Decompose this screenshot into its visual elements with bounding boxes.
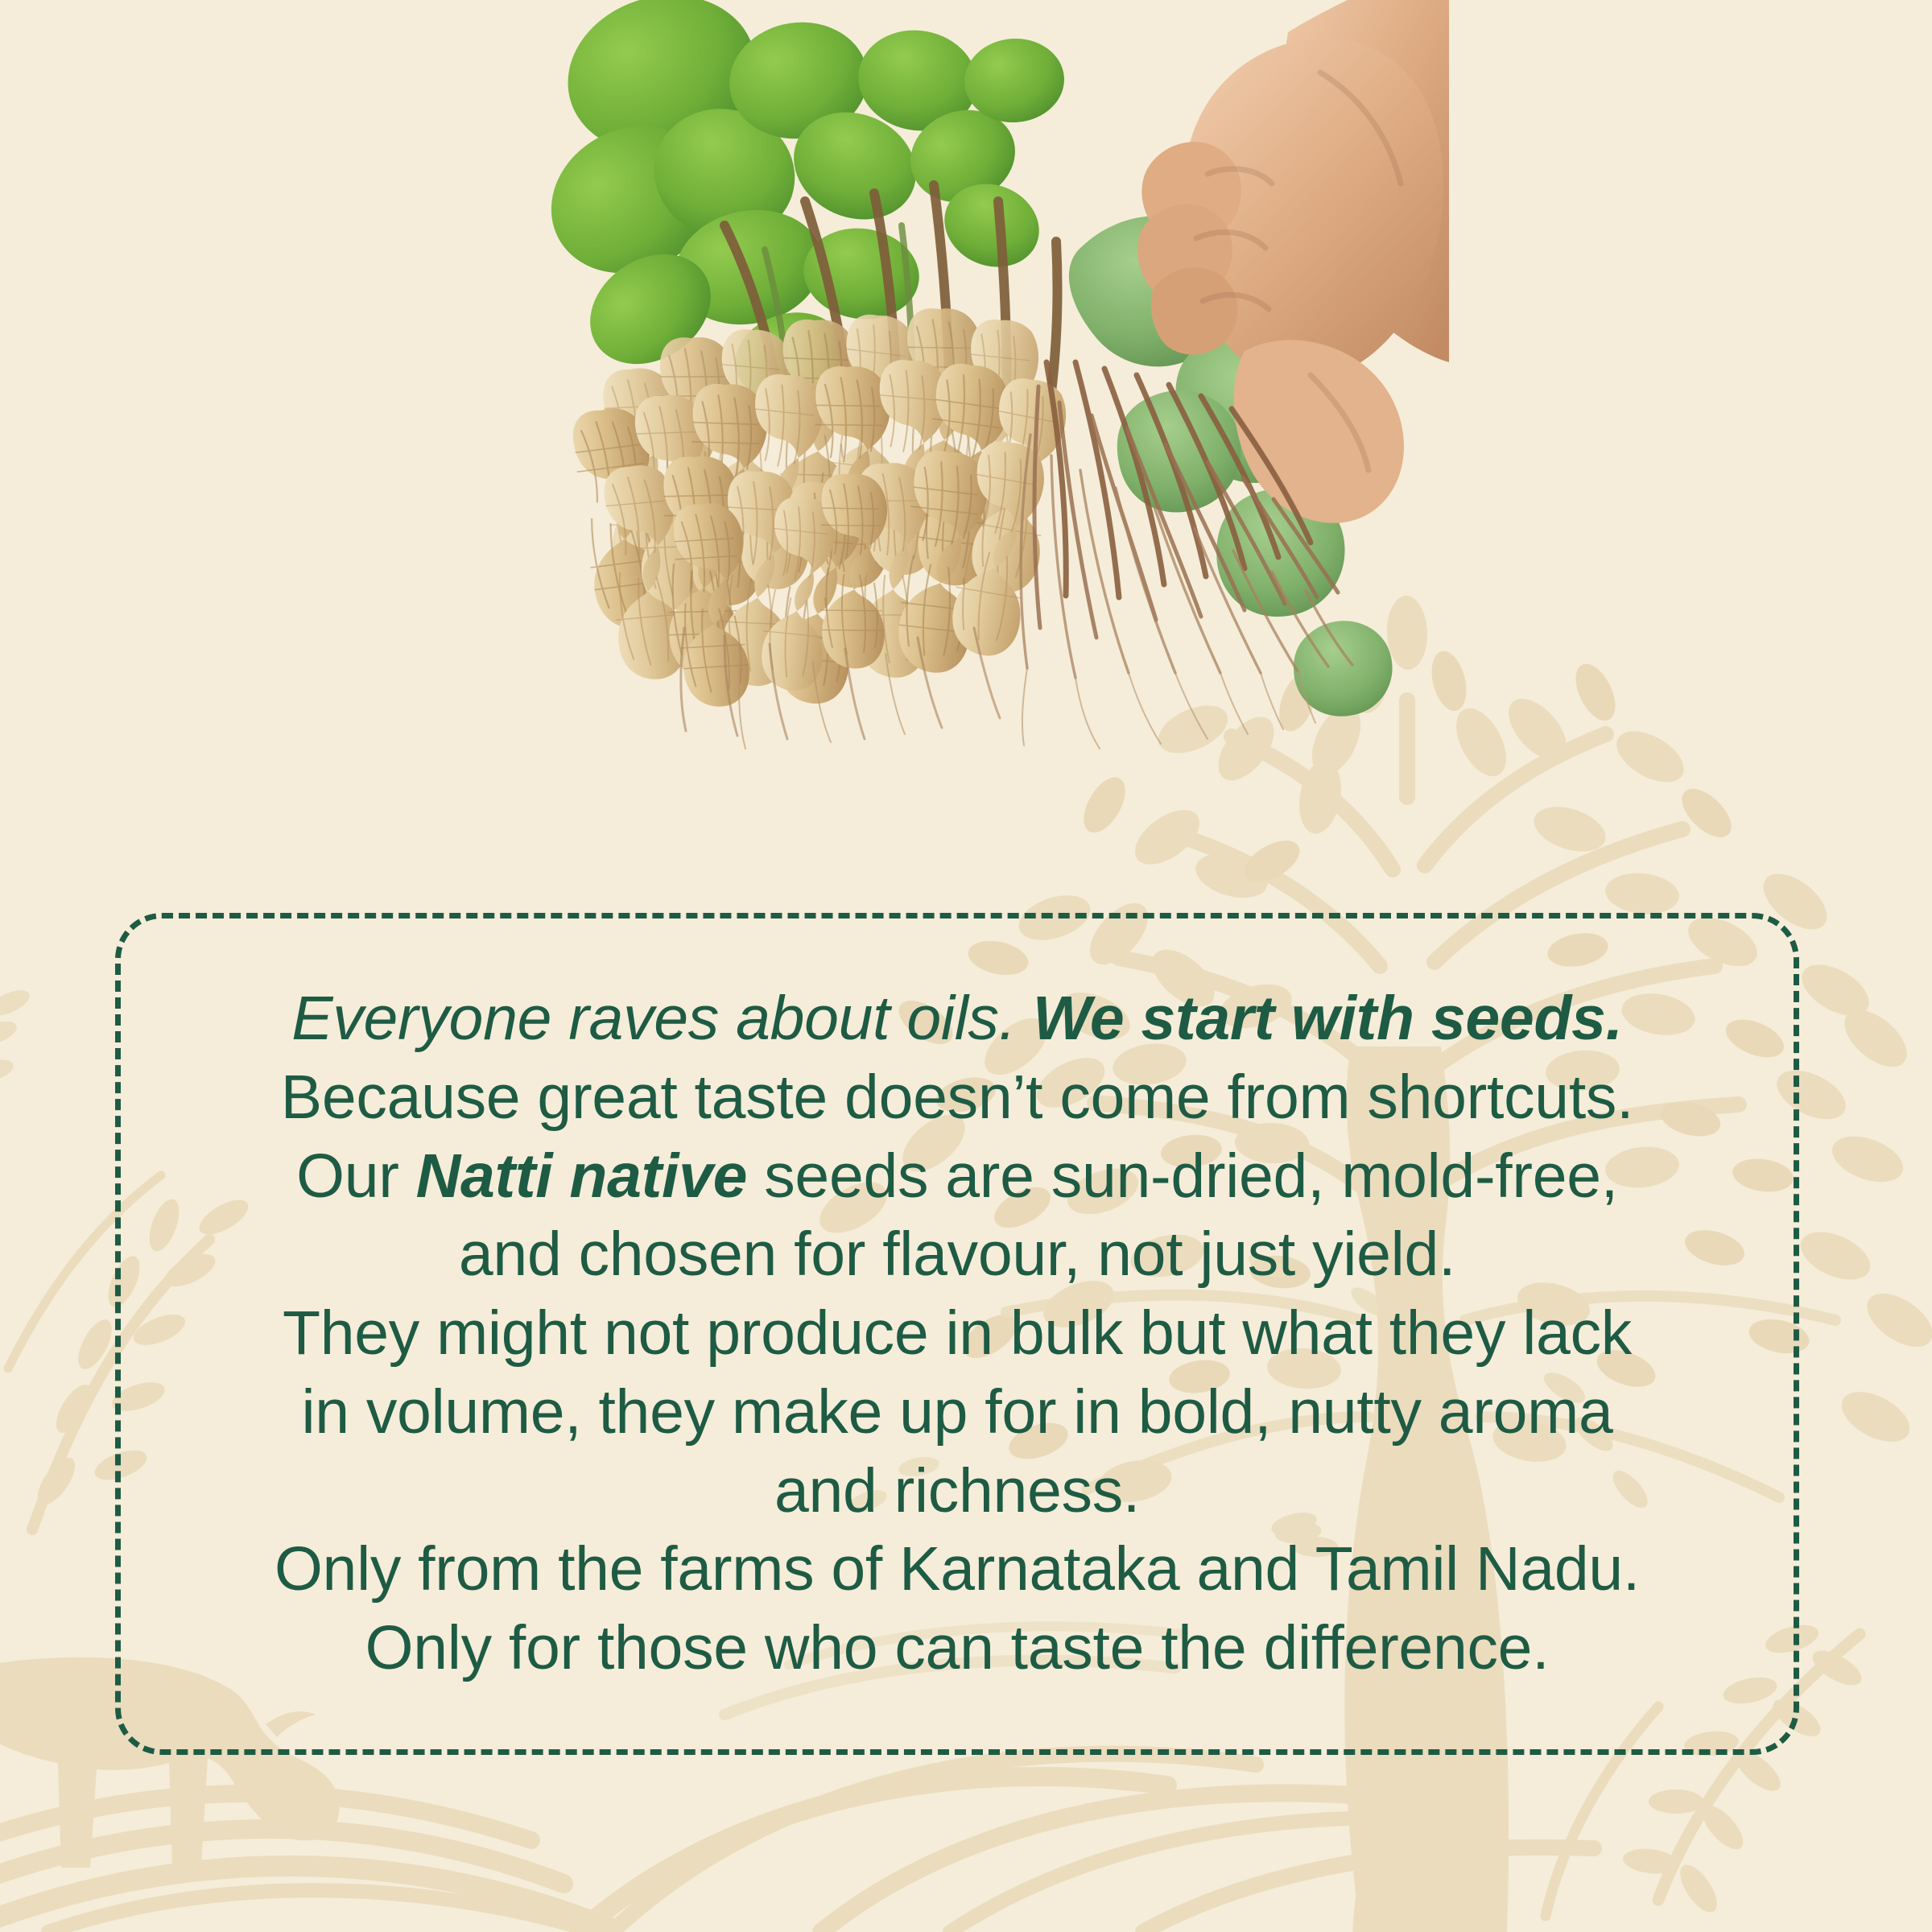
- quote-line-3-part-3: seeds are sun-dried, mold-free,: [747, 1141, 1618, 1211]
- poster-canvas: Everyone raves about oils. We start with…: [0, 0, 1932, 1932]
- quote-line-7: and richness.: [148, 1452, 1766, 1531]
- quote-line-8: Only from the farms of Karnataka and Tam…: [148, 1530, 1766, 1609]
- quote-text: Everyone raves about oils. We start with…: [121, 980, 1794, 1688]
- peanut-pods: [563, 307, 1071, 710]
- plant-roots: [681, 362, 1352, 749]
- quote-line-1-part-2: We start with seeds.: [1033, 984, 1623, 1053]
- quote-card: Everyone raves about oils. We start with…: [115, 913, 1799, 1755]
- quote-line-6: in volume, they make up for in bold, nut…: [148, 1373, 1766, 1452]
- quote-line-1-part-1: Everyone raves about oils.: [291, 984, 1033, 1053]
- quote-line-1: Everyone raves about oils. We start with…: [148, 980, 1766, 1059]
- plant-leaves: [526, 0, 1393, 716]
- quote-line-3: Our Natti native seeds are sun-dried, mo…: [148, 1137, 1766, 1216]
- quote-line-4: and chosen for flavour, not just yield.: [148, 1216, 1766, 1294]
- quote-line-5: They might not produce in bulk but what …: [148, 1294, 1766, 1373]
- quote-line-9: Only for those who can taste the differe…: [148, 1609, 1766, 1688]
- peanut-plant-photo: [483, 0, 1449, 869]
- quote-line-3-part-1: Our: [296, 1141, 416, 1211]
- hand: [1137, 0, 1449, 523]
- quote-line-2: Because great taste doesn’t come from sh…: [148, 1059, 1766, 1137]
- quote-line-3-part-2: Natti native: [416, 1141, 747, 1211]
